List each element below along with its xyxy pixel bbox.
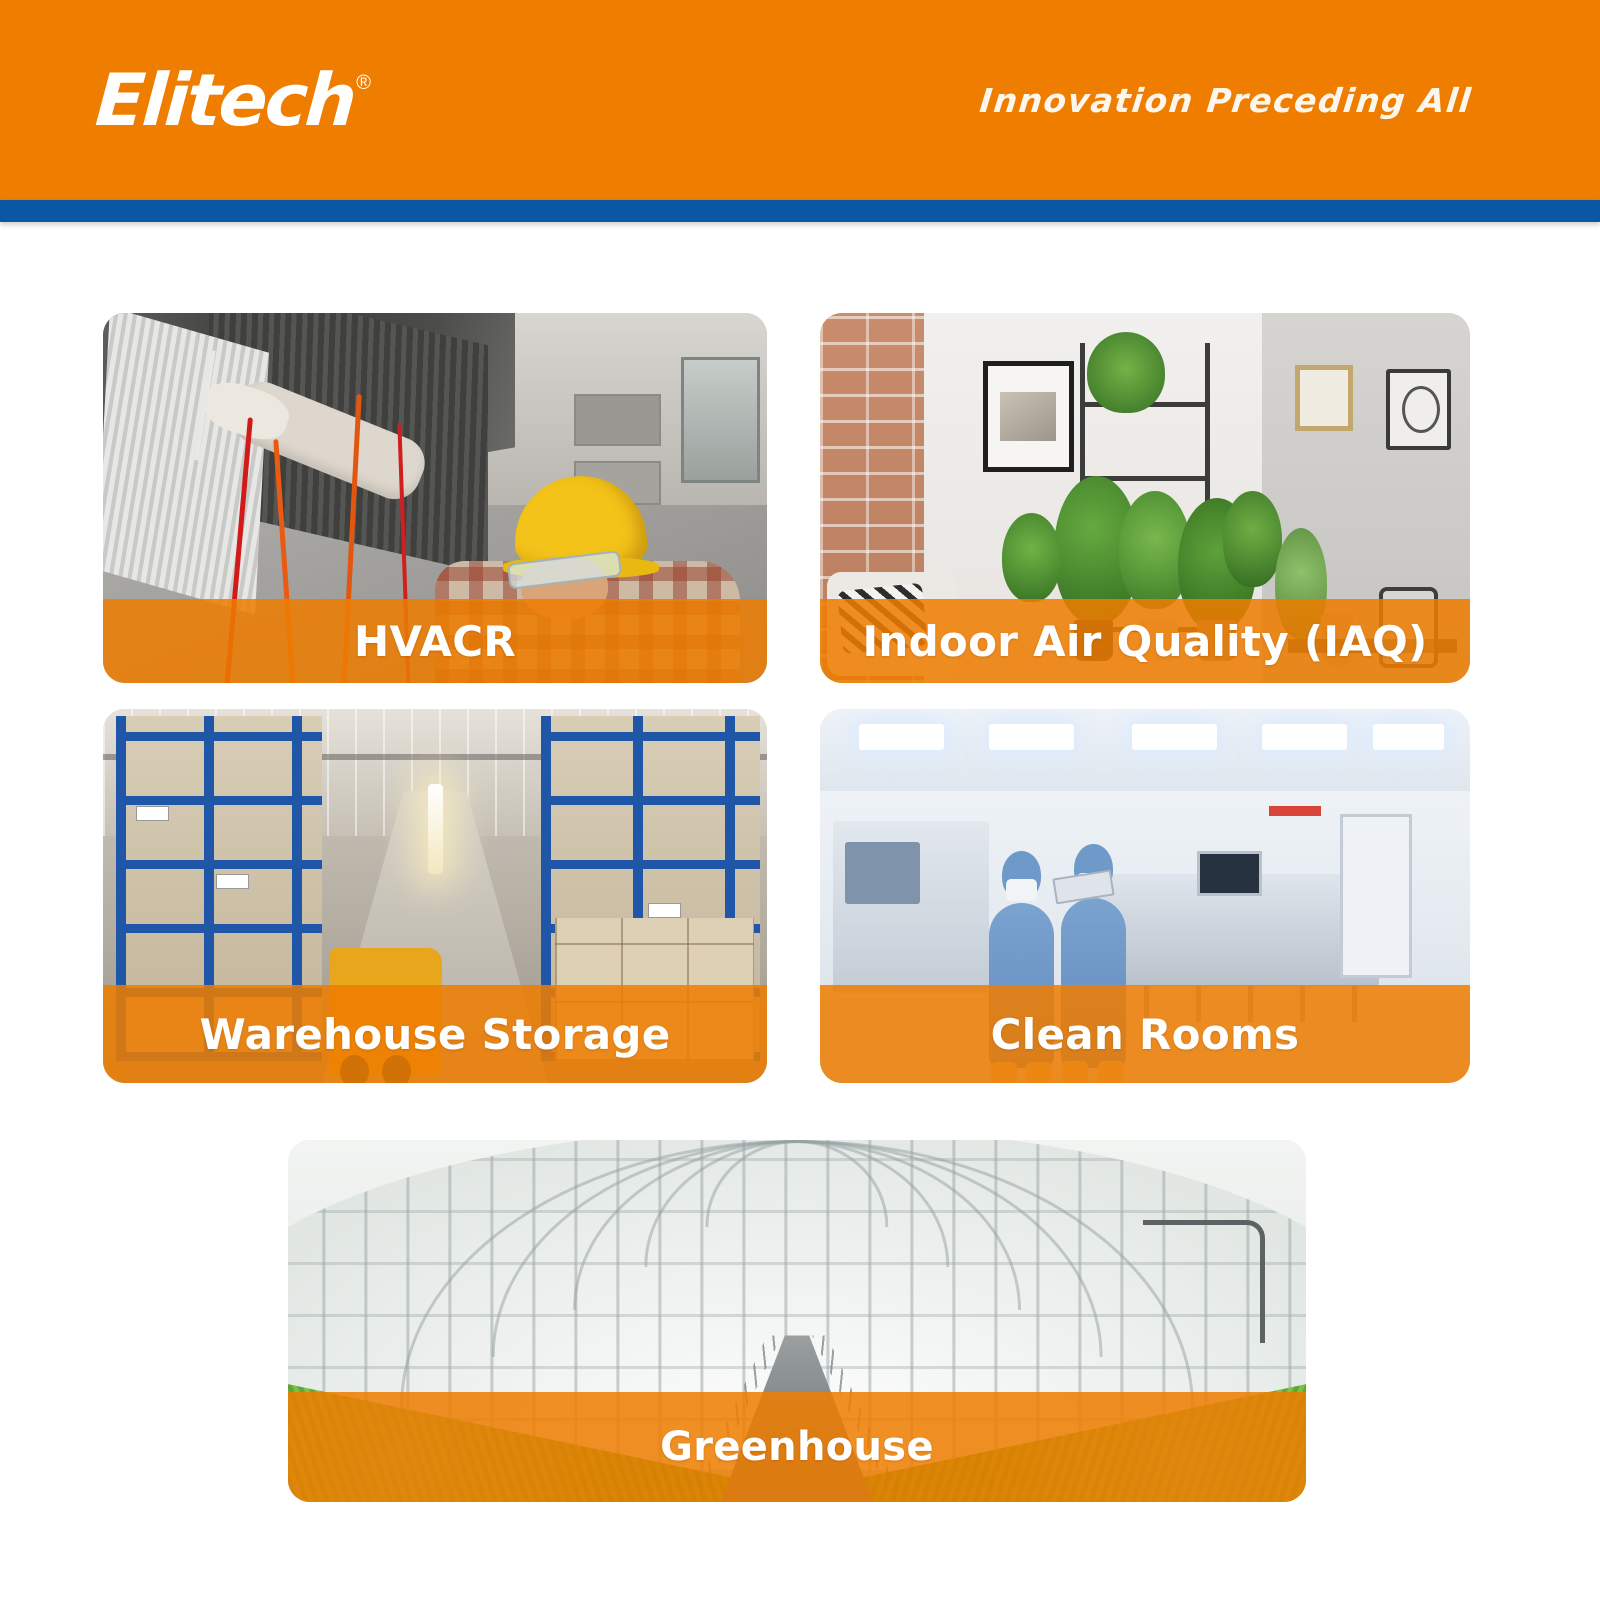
header-accent-rule	[0, 200, 1600, 222]
card-greenhouse-label-bar: Greenhouse	[288, 1392, 1306, 1502]
card-greenhouse-label: Greenhouse	[660, 1424, 934, 1470]
card-greenhouse[interactable]: Greenhouse	[288, 1140, 1306, 1502]
card-hvacr-label-bar: HVACR	[103, 599, 767, 683]
brand-logo[interactable]: Elitech ®	[96, 64, 371, 136]
registered-trademark-icon: ®	[356, 72, 371, 95]
card-warehouse-storage-label: Warehouse Storage	[199, 1010, 670, 1059]
card-clean-rooms-label: Clean Rooms	[991, 1010, 1300, 1059]
brand-tagline: Innovation Preceding All	[978, 81, 1474, 120]
application-card-grid: HVACR	[0, 222, 1600, 1600]
card-iaq-label-bar: Indoor Air Quality (IAQ)	[820, 599, 1470, 683]
card-iaq[interactable]: Indoor Air Quality (IAQ)	[820, 313, 1470, 683]
card-warehouse-storage-label-bar: Warehouse Storage	[103, 985, 767, 1083]
card-hvacr[interactable]: HVACR	[103, 313, 767, 683]
card-iaq-label: Indoor Air Quality (IAQ)	[862, 617, 1427, 666]
brand-logo-text: Elitech	[93, 64, 356, 136]
card-warehouse-storage[interactable]: Warehouse Storage	[103, 709, 767, 1083]
page-header: Elitech ® Innovation Preceding All	[0, 0, 1600, 200]
card-clean-rooms[interactable]: Clean Rooms	[820, 709, 1470, 1083]
card-hvacr-label: HVACR	[354, 617, 516, 666]
card-clean-rooms-label-bar: Clean Rooms	[820, 985, 1470, 1083]
